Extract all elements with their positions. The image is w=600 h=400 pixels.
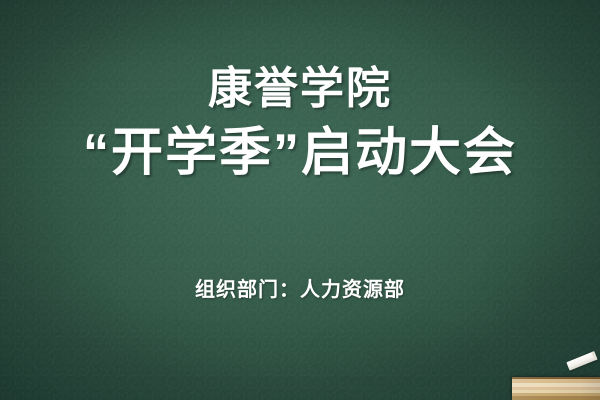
slide-title-block: 康誉学院 “开学季”启动大会 bbox=[0, 62, 600, 184]
slide-content: 康誉学院 “开学季”启动大会 组织部门：人力资源部 bbox=[0, 0, 600, 400]
slide-subtitle-organizing-department: 组织部门：人力资源部 bbox=[0, 277, 600, 303]
slide-title-line-1: 康誉学院 bbox=[0, 62, 600, 116]
slide-title-line-2: “开学季”启动大会 bbox=[0, 122, 600, 184]
chalk-tray-sheen bbox=[512, 377, 600, 400]
presentation-slide: 康誉学院 “开学季”启动大会 组织部门：人力资源部 bbox=[0, 0, 600, 400]
chalk-tray-icon bbox=[512, 377, 600, 400]
